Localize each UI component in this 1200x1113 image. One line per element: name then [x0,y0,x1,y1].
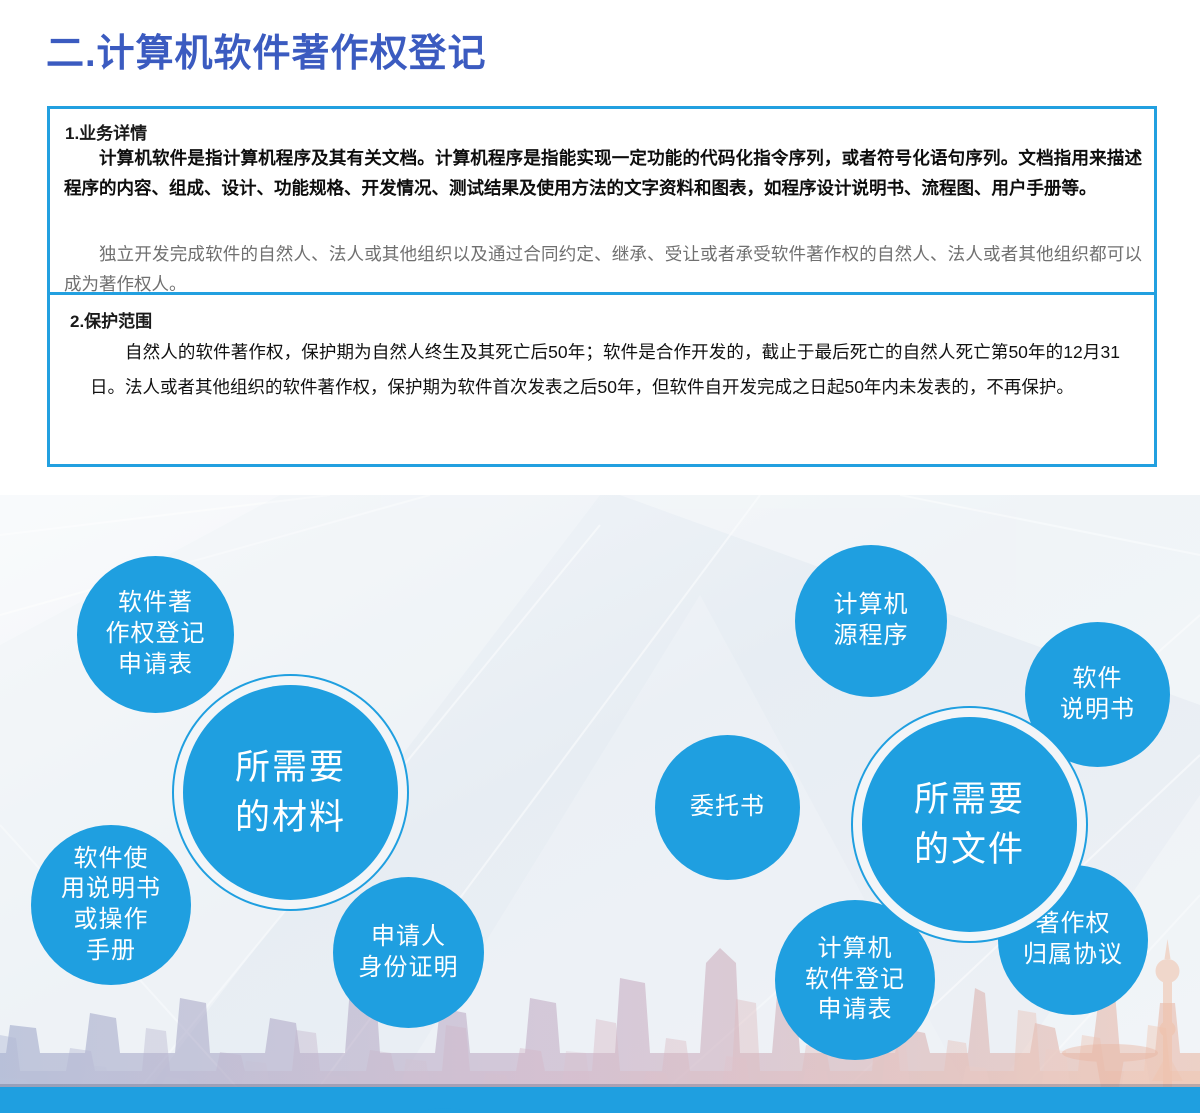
protection-scope-box: 2.保护范围 自然人的软件著作权，保护期为自然人终生及其死亡后50年；软件是合作… [47,292,1157,467]
business-details-paragraph-1: 计算机软件是指计算机程序及其有关文档。计算机程序是指能实现一定功能的代码化指令序… [64,143,1142,203]
bubble-power-of-attorney[interactable]: 委托书 [655,735,800,880]
bubble-user-manual[interactable]: 软件使 用说明书 或操作 手册 [31,825,191,985]
page-title: 二.计算机软件著作权登记 [46,22,487,77]
document-section: 二.计算机软件著作权登记 1.业务详情 计算机软件是指计算机程序及其有关文档。计… [0,0,1200,495]
business-details-paragraph-2: 独立开发完成软件的自然人、法人或其他组织以及通过合同约定、继承、受让或者承受软件… [64,239,1142,299]
protection-scope-heading: 2.保护范围 [70,309,152,335]
bubble-center-required-documents[interactable]: 所需要 的文件 [862,717,1077,932]
bottom-accent-bar [0,1087,1200,1113]
business-details-box: 1.业务详情 计算机软件是指计算机程序及其有关文档。计算机程序是指能实现一定功能… [47,106,1157,296]
bubble-registration-form[interactable]: 计算机 软件登记 申请表 [775,900,935,1060]
bubble-software-manual[interactable]: 软件 说明书 [1025,622,1170,767]
bubble-apply-form[interactable]: 软件著 作权登记 申请表 [77,556,234,713]
bubble-applicant-identity[interactable]: 申请人 身份证明 [333,877,484,1028]
bubble-source-program[interactable]: 计算机 源程序 [795,545,947,697]
bubble-center-required-materials[interactable]: 所需要 的材料 [183,685,398,900]
bubble-diagram-section: 软件著 作权登记 申请表 软件 源代码 软件使 用说明书 或操作 手册 申请人 … [0,495,1200,1113]
protection-scope-paragraph-1: 自然人的软件著作权，保护期为自然人终生及其死亡后50年；软件是合作开发的，截止于… [90,335,1120,405]
